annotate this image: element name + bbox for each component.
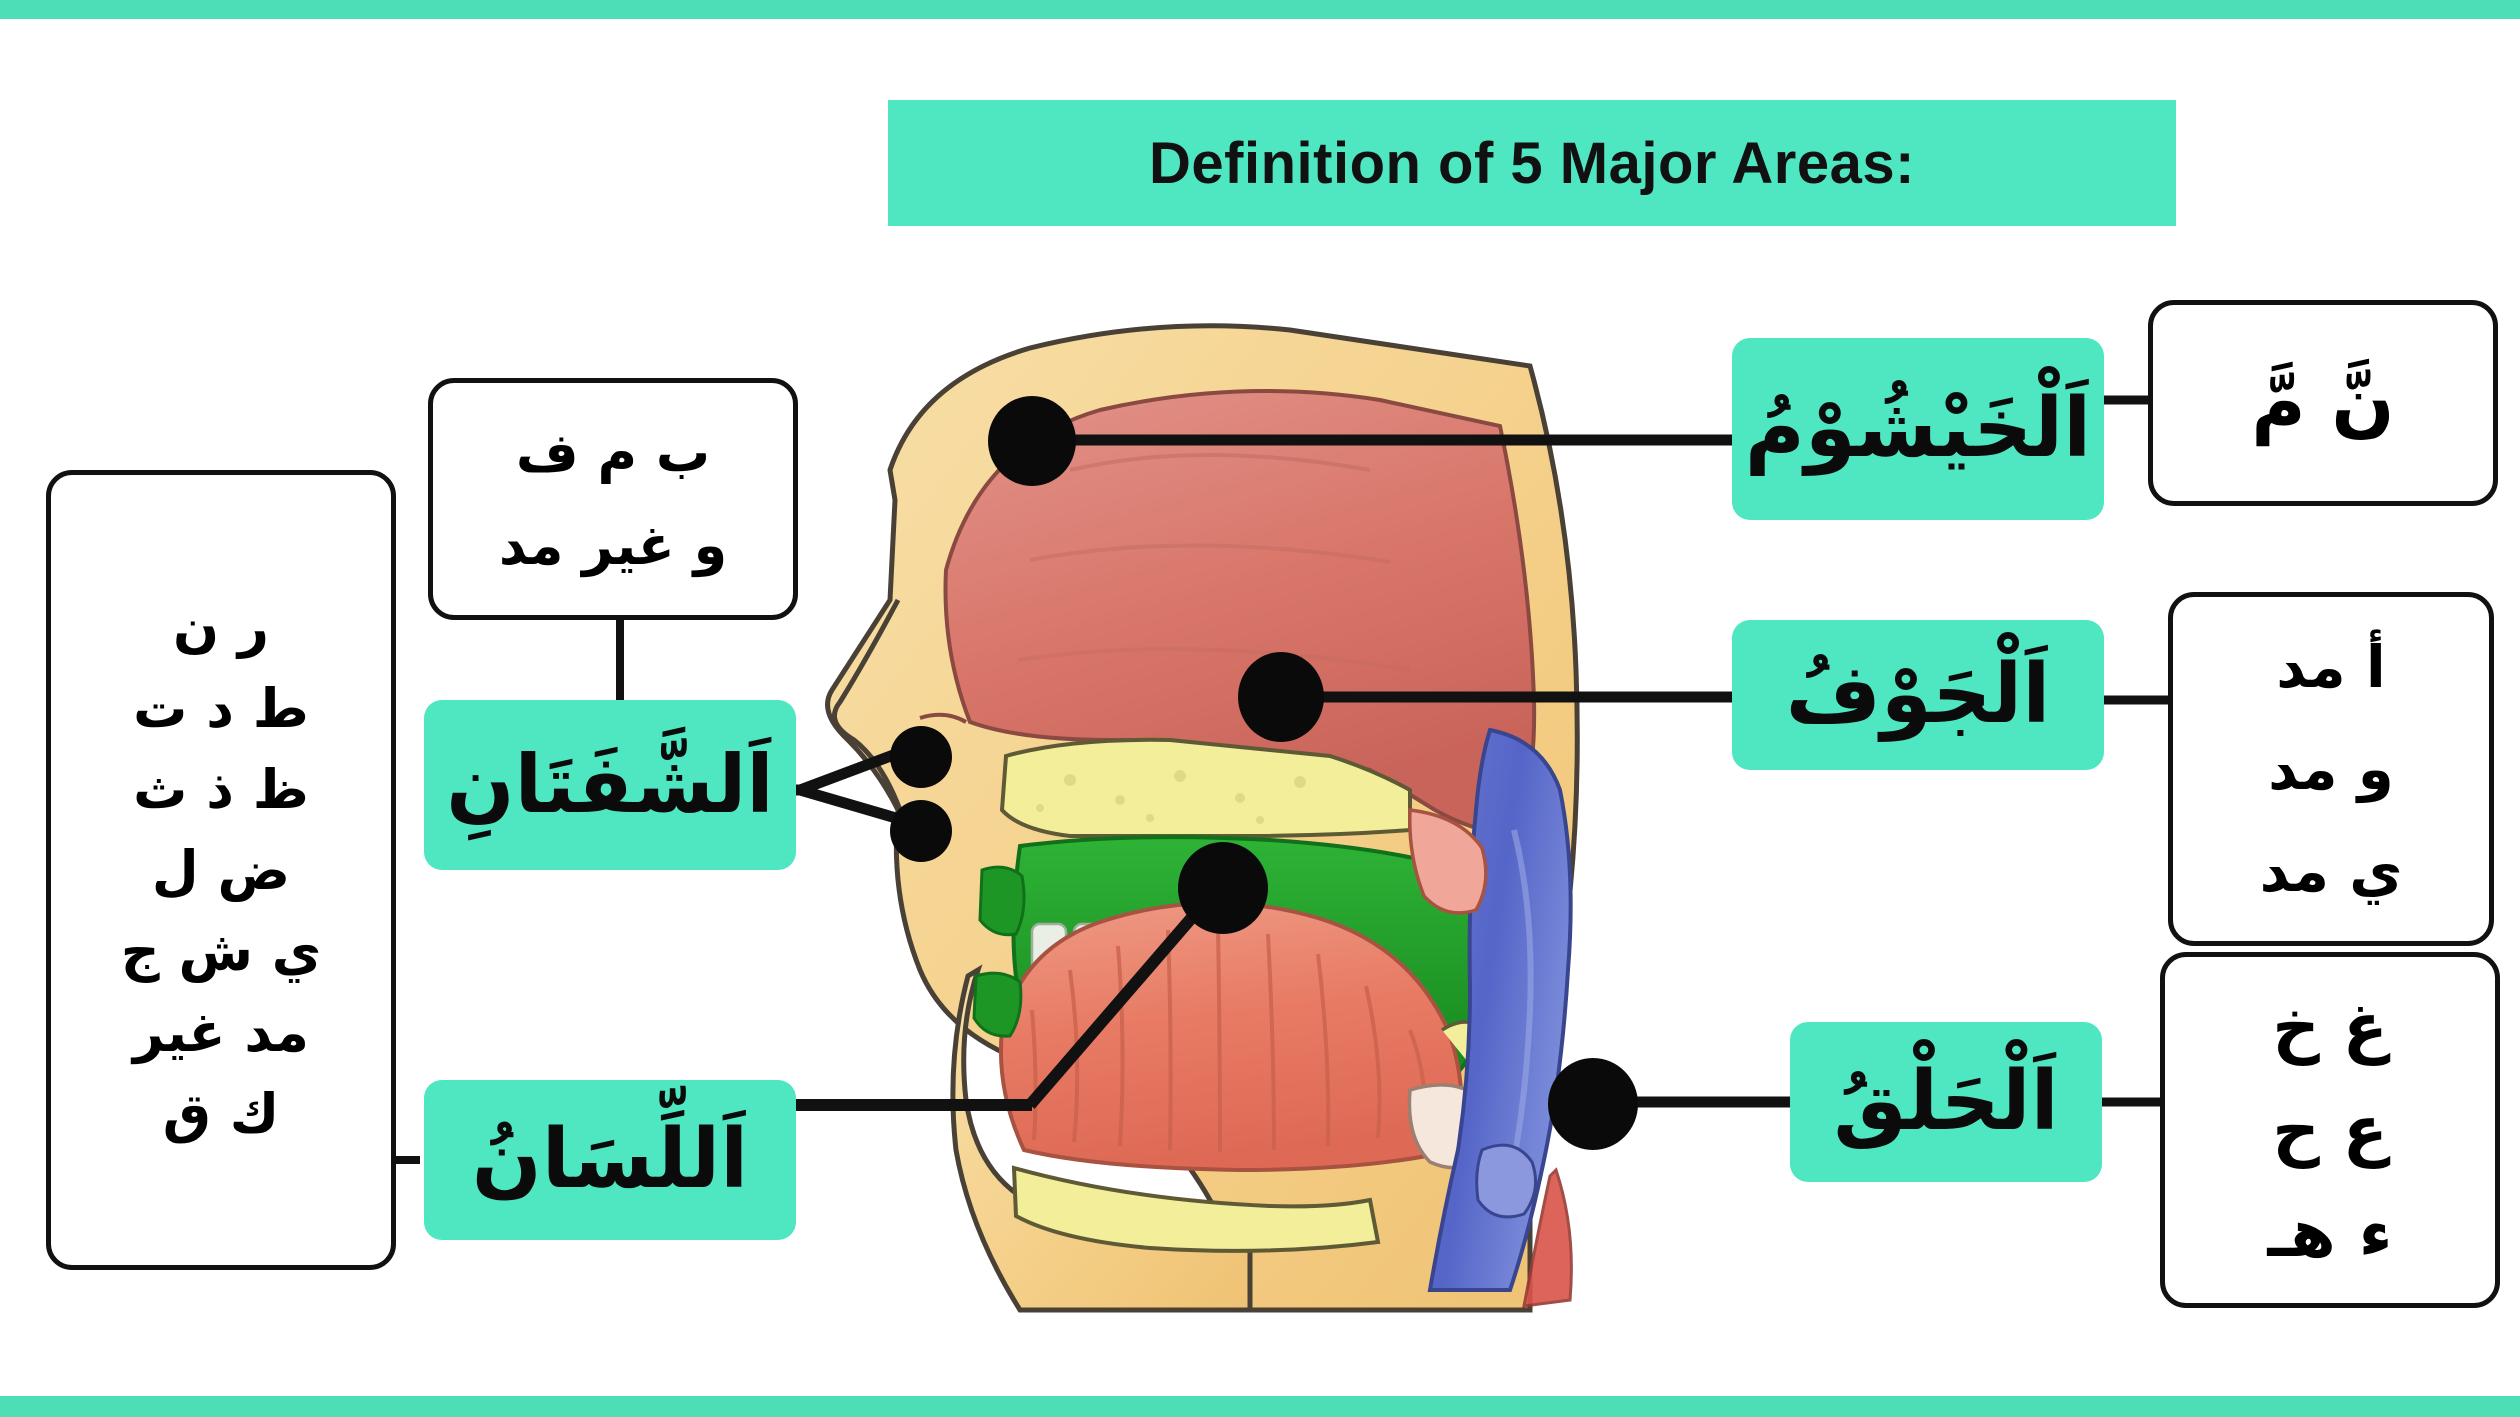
letterbox-khayshum[interactable]: نَّ مَّ — [2148, 300, 2498, 506]
page-title: Definition of 5 Major Areas: — [1149, 130, 1915, 197]
marker-dot-khayshum[interactable] — [988, 396, 1076, 486]
letter-row: غ خ — [2272, 989, 2388, 1066]
letter-row: ب م ف — [516, 421, 710, 484]
letter-row: ض ل — [152, 839, 290, 902]
letter-row: ظ ذ ث — [133, 758, 309, 821]
letter-row: مد غير — [133, 1001, 309, 1064]
marker-dot-lower-lip[interactable] — [890, 800, 952, 862]
letter-row: ع ح — [2272, 1092, 2388, 1169]
letter-row: نَّ مَّ — [2251, 360, 2394, 446]
area-chip-halq[interactable]: اَلْحَلْقُ — [1790, 1022, 2102, 1182]
letter-row: ر ن — [173, 596, 269, 659]
marker-dot-upper-lip[interactable] — [890, 726, 952, 788]
letterbox-lisan[interactable]: ر ن ط د ت ظ ذ ث ض ل ي ش ج مد غير ك ق — [46, 470, 396, 1270]
title-banner: Definition of 5 Major Areas: — [888, 100, 2176, 226]
letterbox-shafatan[interactable]: ب م ف و غير مد — [428, 378, 798, 620]
letter-row: و مد — [2268, 735, 2394, 803]
area-chip-khayshum[interactable]: اَلْخَيْشُوْمُ — [1732, 338, 2104, 520]
letter-row: ي مد — [2260, 837, 2403, 905]
letter-row: و غير مد — [499, 514, 727, 577]
marker-dot-jawf[interactable] — [1238, 652, 1324, 742]
letter-row: أ مد — [2276, 633, 2386, 701]
area-chip-lisan[interactable]: اَللِّسَانُ — [424, 1080, 796, 1240]
letter-row: ك ق — [163, 1082, 280, 1145]
area-chip-jawf[interactable]: اَلْجَوْفُ — [1732, 620, 2104, 770]
letter-row: ي ش ج — [121, 920, 322, 983]
marker-dot-lisan[interactable] — [1178, 842, 1268, 934]
letterbox-jawf[interactable]: أ مد و مد ي مد — [2168, 592, 2494, 946]
marker-dot-halq[interactable] — [1548, 1058, 1638, 1150]
letterbox-halq[interactable]: غ خ ع ح ء هـ — [2160, 952, 2500, 1308]
diagram-canvas: Definition of 5 Major Areas: — [0, 0, 2520, 1417]
top-accent-bar — [0, 0, 2520, 19]
letter-row: ط د ت — [133, 677, 309, 740]
letter-row: ء هـ — [2267, 1195, 2392, 1272]
area-chip-shafatan[interactable]: اَلشَّفَتَانِ — [424, 700, 796, 870]
bottom-accent-bar — [0, 1396, 2520, 1417]
